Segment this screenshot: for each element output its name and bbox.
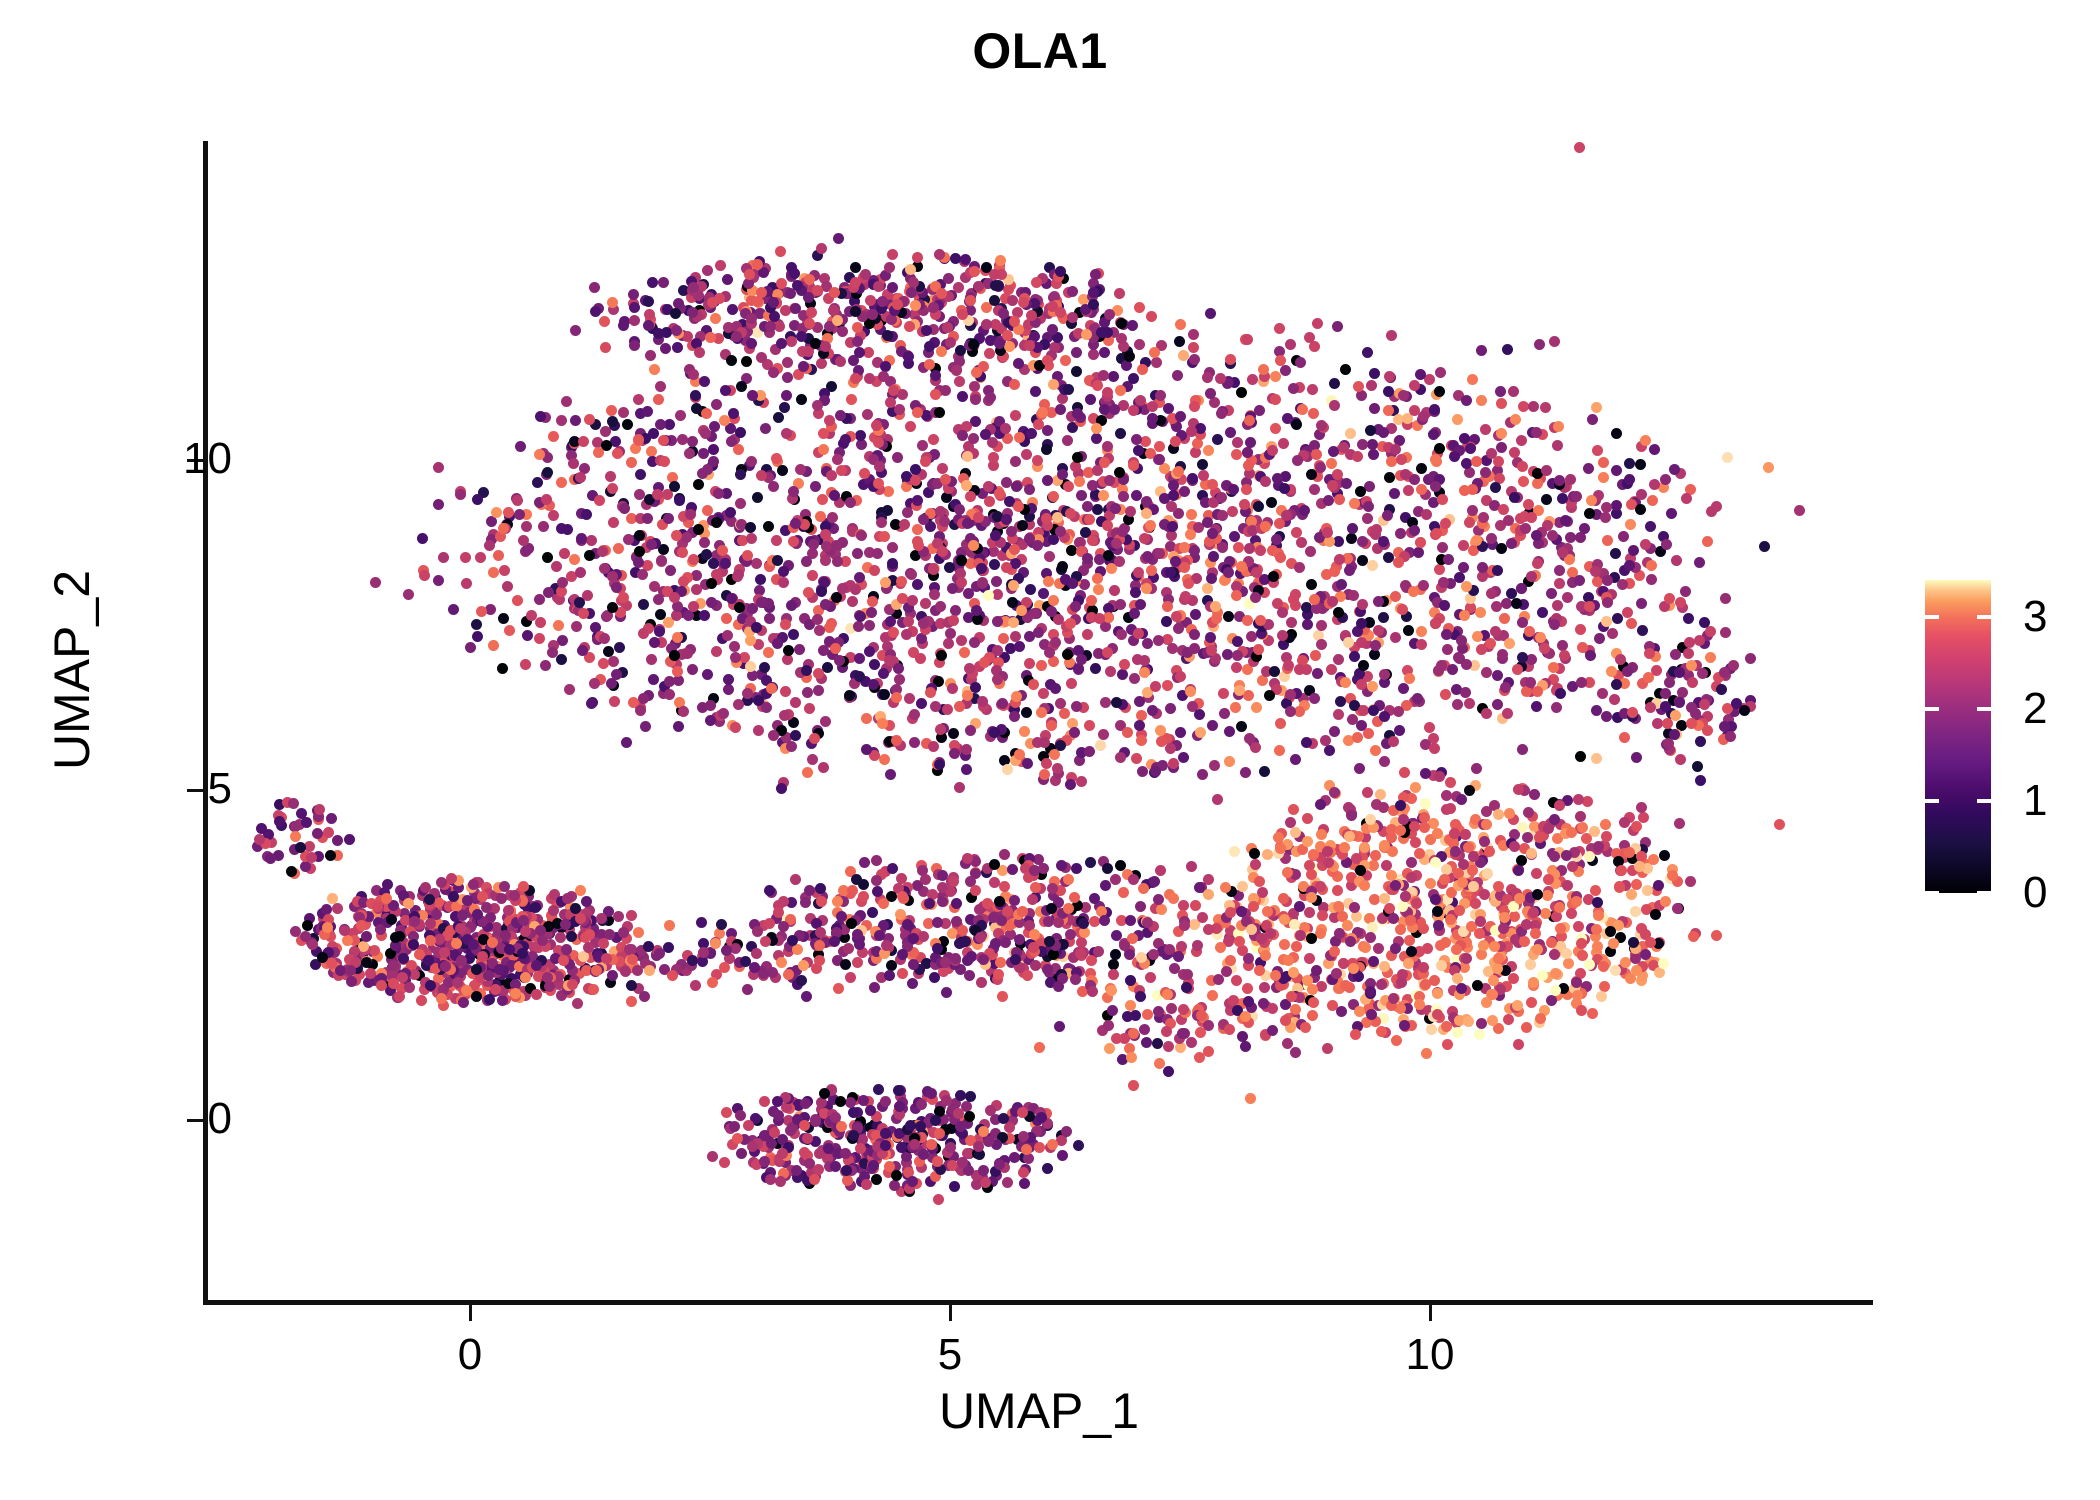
scatter-point — [840, 434, 851, 445]
scatter-point — [1236, 721, 1247, 732]
scatter-point — [760, 423, 771, 434]
scatter-point — [1022, 758, 1033, 769]
scatter-point — [888, 627, 899, 638]
scatter-point — [1333, 709, 1344, 720]
scatter-point — [1312, 318, 1323, 329]
scatter-point — [1286, 617, 1297, 628]
scatter-point — [1640, 539, 1651, 550]
scatter-point — [1631, 879, 1642, 890]
scatter-point — [1192, 438, 1203, 449]
scatter-point — [1057, 469, 1068, 480]
scatter-point — [578, 608, 589, 619]
scatter-point — [918, 1149, 929, 1160]
scatter-point — [1554, 800, 1565, 811]
scatter-point — [654, 626, 665, 637]
scatter-point — [1125, 506, 1136, 517]
scatter-point — [1288, 967, 1299, 978]
scatter-point — [1260, 521, 1271, 532]
scatter-point — [1492, 699, 1503, 710]
scatter-point — [1262, 849, 1273, 860]
scatter-point — [1763, 462, 1774, 473]
scatter-point — [1179, 486, 1190, 497]
scatter-point — [1092, 504, 1103, 515]
scatter-point — [1383, 552, 1394, 563]
scatter-point — [763, 647, 774, 658]
scatter-point — [681, 532, 692, 543]
scatter-point — [864, 620, 875, 631]
scatter-point — [764, 613, 775, 624]
scatter-point — [735, 427, 746, 438]
scatter-point — [854, 347, 865, 358]
scatter-point — [1546, 937, 1557, 948]
scatter-point — [1207, 720, 1218, 731]
scatter-point — [659, 456, 670, 467]
scatter-point — [1480, 467, 1491, 478]
scatter-point — [1175, 671, 1186, 682]
scatter-point — [1255, 615, 1266, 626]
scatter-point — [265, 853, 276, 864]
scatter-point — [1566, 827, 1577, 838]
scatter-point — [1190, 447, 1201, 458]
scatter-point — [859, 468, 870, 479]
scatter-point — [780, 686, 791, 697]
scatter-point — [1553, 421, 1564, 432]
scatter-point — [928, 434, 939, 445]
scatter-point — [912, 252, 923, 263]
scatter-point — [1057, 561, 1068, 572]
scatter-point — [970, 394, 981, 405]
scatter-point — [1253, 644, 1264, 655]
scatter-point — [741, 356, 752, 367]
scatter-point — [978, 1126, 989, 1137]
scatter-point — [1477, 562, 1488, 573]
scatter-point — [1047, 1139, 1058, 1150]
scatter-point — [1010, 456, 1021, 467]
scatter-point — [1225, 354, 1236, 365]
scatter-point — [1532, 478, 1543, 489]
scatter-point — [1175, 411, 1186, 422]
scatter-point — [1294, 901, 1305, 912]
scatter-point — [1495, 386, 1506, 397]
scatter-point — [1030, 386, 1041, 397]
scatter-point — [1168, 758, 1179, 769]
scatter-point — [1155, 725, 1166, 736]
scatter-point — [1362, 347, 1373, 358]
scatter-point — [1475, 607, 1486, 618]
scatter-point — [1590, 885, 1601, 896]
scatter-point — [1577, 822, 1588, 833]
scatter-point — [394, 991, 405, 1002]
scatter-point — [618, 320, 629, 331]
scatter-point — [1076, 490, 1087, 501]
scatter-point — [1147, 401, 1158, 412]
scatter-point — [832, 454, 843, 465]
scatter-point — [933, 1194, 944, 1205]
scatter-point — [1239, 499, 1250, 510]
scatter-point — [376, 980, 387, 991]
scatter-point — [1358, 705, 1369, 716]
scatter-point — [1573, 921, 1584, 932]
scatter-point — [977, 696, 988, 707]
scatter-point — [1209, 760, 1220, 771]
scatter-point — [433, 575, 444, 586]
scatter-point — [1369, 403, 1380, 414]
scatter-point — [1554, 565, 1565, 576]
scatter-point — [804, 703, 815, 714]
scatter-point — [747, 1141, 758, 1152]
scatter-point — [942, 704, 953, 715]
scatter-point — [796, 331, 807, 342]
scatter-point — [1334, 494, 1345, 505]
scatter-point — [1452, 699, 1463, 710]
scatter-point — [1316, 981, 1327, 992]
scatter-point — [717, 545, 728, 556]
scatter-point — [1345, 428, 1356, 439]
scatter-point — [1115, 428, 1126, 439]
scatter-point — [916, 698, 927, 709]
scatter-point — [845, 497, 856, 508]
scatter-point — [1571, 491, 1582, 502]
scatter-point — [1390, 880, 1401, 891]
scatter-point — [1146, 311, 1157, 322]
scatter-point — [1542, 890, 1553, 901]
scatter-point — [733, 444, 744, 455]
scatter-point — [935, 601, 946, 612]
scatter-point — [1302, 836, 1313, 847]
scatter-point — [1134, 696, 1145, 707]
scatter-point — [854, 671, 865, 682]
scatter-point — [1091, 423, 1102, 434]
scatter-point — [1688, 931, 1699, 942]
scatter-point — [1250, 859, 1261, 870]
scatter-point — [1255, 545, 1266, 556]
scatter-point — [1215, 373, 1226, 384]
scatter-point — [1282, 867, 1293, 878]
scatter-point — [736, 381, 747, 392]
scatter-point — [1316, 639, 1327, 650]
scatter-point — [790, 697, 801, 708]
scatter-point — [1589, 826, 1600, 837]
scatter-point — [1454, 905, 1465, 916]
scatter-point — [1025, 584, 1036, 595]
scatter-point — [1332, 885, 1343, 896]
scatter-point — [715, 260, 726, 271]
scatter-point — [1416, 463, 1427, 474]
scatter-point — [537, 935, 548, 946]
scatter-point — [746, 456, 757, 467]
scatter-point — [586, 698, 597, 709]
scatter-point — [954, 504, 965, 515]
scatter-point — [998, 633, 1009, 644]
scatter-point — [869, 659, 880, 670]
scatter-point — [976, 563, 987, 574]
scatter-point — [1344, 831, 1355, 842]
scatter-point — [556, 654, 567, 665]
scatter-point — [864, 646, 875, 657]
scatter-point — [701, 408, 712, 419]
scatter-point — [1435, 367, 1446, 378]
scatter-point — [722, 274, 733, 285]
scatter-point — [989, 559, 1000, 570]
scatter-point — [1535, 1013, 1546, 1024]
scatter-point — [1092, 573, 1103, 584]
scatter-point — [1217, 542, 1228, 553]
scatter-point — [1042, 425, 1053, 436]
scatter-point — [522, 630, 533, 641]
scatter-point — [868, 1160, 879, 1171]
scatter-point — [603, 646, 614, 657]
scatter-point — [882, 330, 893, 341]
scatter-point — [948, 615, 959, 626]
scatter-point — [1508, 973, 1519, 984]
scatter-point — [905, 421, 916, 432]
scatter-point — [909, 709, 920, 720]
scatter-point — [1250, 742, 1261, 753]
scatter-point — [873, 478, 884, 489]
scatter-point — [1432, 988, 1443, 999]
scatter-point — [1486, 533, 1497, 544]
scatter-point — [1232, 650, 1243, 661]
scatter-point — [824, 415, 835, 426]
scatter-point — [879, 531, 890, 542]
scatter-point — [1162, 680, 1173, 691]
scatter-point — [772, 1096, 783, 1107]
scatter-point — [1389, 488, 1400, 499]
scatter-point — [812, 614, 823, 625]
scatter-point — [332, 903, 343, 914]
scatter-point — [1561, 850, 1572, 861]
scatter-point — [809, 733, 820, 744]
scatter-point — [675, 410, 686, 421]
scatter-point — [1493, 881, 1504, 892]
scatter-point — [988, 452, 999, 463]
scatter-point — [499, 881, 510, 892]
scatter-point — [813, 668, 824, 679]
scatter-point — [802, 1133, 813, 1144]
scatter-point — [1551, 702, 1562, 713]
scatter-point — [512, 495, 523, 506]
scatter-point — [1375, 789, 1386, 800]
scatter-point — [1562, 592, 1573, 603]
scatter-point — [1048, 595, 1059, 606]
scatter-point — [532, 477, 543, 488]
scatter-point — [288, 798, 299, 809]
scatter-point — [1044, 551, 1055, 562]
scatter-point — [1189, 354, 1200, 365]
scatter-point — [1526, 997, 1537, 1008]
scatter-point — [403, 589, 414, 600]
scatter-point — [835, 356, 846, 367]
scatter-point — [1178, 752, 1189, 763]
scatter-point — [1425, 878, 1436, 889]
scatter-point — [622, 419, 633, 430]
scatter-point — [1142, 638, 1153, 649]
scatter-point — [771, 535, 782, 546]
scatter-point — [688, 601, 699, 612]
scatter-point — [1625, 519, 1636, 530]
scatter-point — [877, 718, 888, 729]
scatter-point — [759, 1156, 770, 1167]
scatter-point — [779, 402, 790, 413]
scatter-point — [702, 265, 713, 276]
scatter-point — [438, 552, 449, 563]
scatter-point — [1018, 1167, 1029, 1178]
scatter-point — [1509, 492, 1520, 503]
scatter-point — [503, 905, 514, 916]
scatter-point — [1280, 365, 1291, 376]
scatter-point — [1487, 989, 1498, 1000]
scatter-point — [1149, 347, 1160, 358]
scatter-point — [1349, 651, 1360, 662]
scatter-point — [699, 610, 710, 621]
scatter-point — [1354, 763, 1365, 774]
scatter-point — [944, 562, 955, 573]
scatter-point — [1306, 469, 1317, 480]
scatter-point — [1195, 727, 1206, 738]
scatter-point — [1205, 632, 1216, 643]
scatter-point — [826, 470, 837, 481]
scatter-point — [1019, 726, 1030, 737]
scatter-point — [646, 654, 657, 665]
scatter-point — [782, 357, 793, 368]
scatter-point — [959, 647, 970, 658]
scatter-point — [1471, 456, 1482, 467]
scatter-point — [612, 448, 623, 459]
scatter-point — [1661, 539, 1672, 550]
scatter-point — [835, 410, 846, 421]
scatter-point — [1409, 821, 1420, 832]
scatter-point — [1218, 688, 1229, 699]
scatter-point — [1139, 667, 1150, 678]
scatter-point — [1600, 819, 1611, 830]
scatter-point — [1285, 339, 1296, 350]
scatter-point — [794, 644, 805, 655]
scatter-point — [1459, 485, 1470, 496]
scatter-point — [1228, 484, 1239, 495]
scatter-point — [694, 347, 705, 358]
scatter-point — [499, 565, 510, 576]
scatter-point — [493, 550, 504, 561]
scatter-point — [634, 546, 645, 557]
scatter-point — [673, 675, 684, 686]
scatter-point — [980, 1177, 991, 1188]
scatter-point — [1416, 639, 1427, 650]
scatter-point — [542, 467, 553, 478]
scatter-point — [1115, 385, 1126, 396]
scatter-point — [721, 1107, 732, 1118]
scatter-point — [1041, 758, 1052, 769]
scatter-point — [1635, 459, 1646, 470]
scatter-point — [1476, 1018, 1487, 1029]
scatter-point — [1406, 872, 1417, 883]
scatter-point — [607, 602, 618, 613]
scatter-point — [1409, 380, 1420, 391]
scatter-point — [742, 550, 753, 561]
scatter-point — [1440, 937, 1451, 948]
scatter-point — [446, 873, 457, 884]
scatter-point — [1224, 726, 1235, 737]
scatter-point — [1437, 542, 1448, 553]
scatter-point — [705, 332, 716, 343]
scatter-point — [1340, 677, 1351, 688]
scatter-point — [1185, 686, 1196, 697]
scatter-point — [1099, 347, 1110, 358]
scatter-point — [1223, 567, 1234, 578]
scatter-point — [1074, 476, 1085, 487]
scatter-point — [344, 834, 355, 845]
scatter-point — [1441, 790, 1452, 801]
scatter-point — [1166, 501, 1177, 512]
scatter-point — [1312, 668, 1323, 679]
scatter-point — [619, 503, 630, 514]
scatter-point — [934, 407, 945, 418]
scatter-point — [1327, 480, 1338, 491]
scatter-point — [1024, 658, 1035, 669]
scatter-point — [1050, 637, 1061, 648]
scatter-point — [729, 641, 740, 652]
scatter-point — [669, 650, 680, 661]
scatter-point — [638, 693, 649, 704]
scatter-point — [577, 645, 588, 656]
scatter-point — [1434, 443, 1445, 454]
scatter-point — [1636, 489, 1647, 500]
scatter-point — [907, 595, 918, 606]
scatter-point — [1528, 907, 1539, 918]
scatter-point — [1268, 571, 1279, 582]
scatter-point — [1346, 810, 1357, 821]
scatter-point — [314, 804, 325, 815]
scatter-point — [1065, 508, 1076, 519]
scatter-point — [1509, 841, 1520, 852]
scatter-point — [1357, 599, 1368, 610]
scatter-point — [1082, 629, 1093, 640]
scatter-point — [854, 653, 865, 664]
scatter-point — [1329, 378, 1340, 389]
scatter-point — [1230, 702, 1241, 713]
scatter-point — [980, 429, 991, 440]
scatter-point — [732, 571, 743, 582]
scatter-point — [1393, 557, 1404, 568]
scatter-point — [663, 513, 674, 524]
scatter-point — [862, 409, 873, 420]
scatter-point — [290, 831, 301, 842]
scatter-point — [1229, 531, 1240, 542]
scatter-point — [1584, 851, 1595, 862]
scatter-point — [1002, 764, 1013, 775]
scatter-point — [1247, 374, 1258, 385]
scatter-point — [419, 570, 430, 581]
scatter-point — [1485, 638, 1496, 649]
scatter-point — [1649, 479, 1660, 490]
scatter-point — [1167, 521, 1178, 532]
scatter-point — [542, 552, 553, 563]
scatter-point — [1086, 595, 1097, 606]
scatter-point — [879, 754, 890, 765]
scatter-point — [1105, 666, 1116, 677]
scatter-point — [1087, 480, 1098, 491]
scatter-point — [1390, 591, 1401, 602]
scatter-point — [1171, 611, 1182, 622]
scatter-point — [1122, 727, 1133, 738]
scatter-point — [945, 337, 956, 348]
scatter-point — [726, 355, 737, 366]
scatter-point — [1270, 394, 1281, 405]
scatter-point — [638, 628, 649, 639]
scatter-point — [1317, 910, 1328, 921]
scatter-point — [820, 599, 831, 610]
scatter-point — [608, 656, 619, 667]
scatter-point — [1001, 562, 1012, 573]
